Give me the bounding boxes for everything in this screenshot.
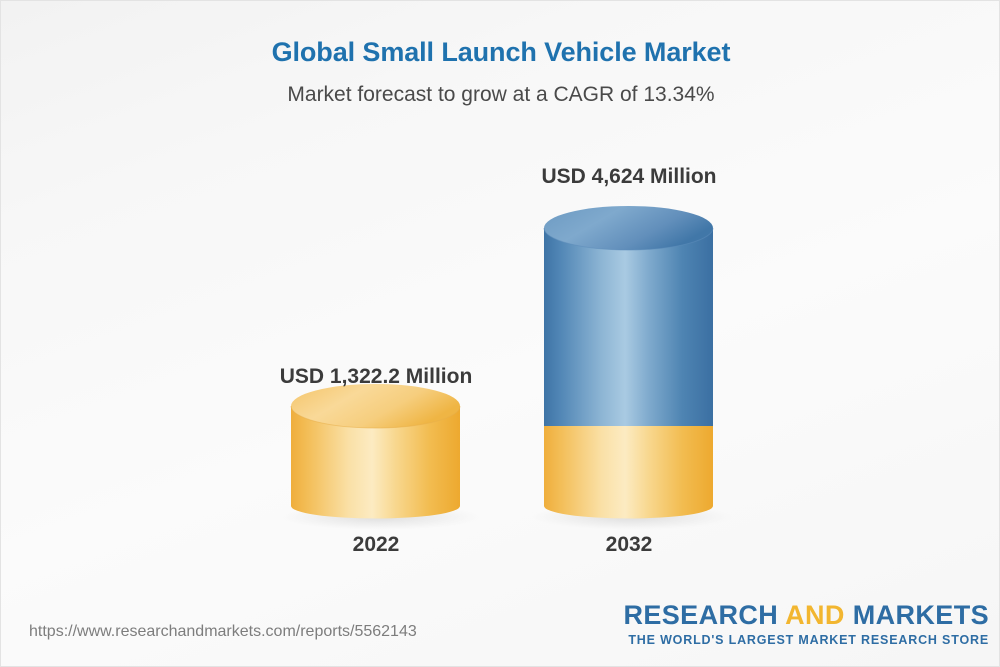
brand-name-and: AND	[785, 600, 845, 630]
brand-name-markets: MARKETS	[845, 600, 989, 630]
source-url[interactable]: https://www.researchandmarkets.com/repor…	[29, 623, 417, 641]
brand-name: RESEARCH AND MARKETS	[623, 601, 989, 630]
brand-logo: RESEARCH AND MARKETS THE WORLD'S LARGEST…	[623, 601, 989, 648]
category-label-2032: 2032	[534, 533, 724, 557]
category-label-2022: 2022	[281, 533, 471, 557]
chart-plot-area: USD 1,322.2 Million USD 4,624 Million 20…	[1, 1, 1000, 667]
brand-tagline: THE WORLD'S LARGEST MARKET RESEARCH STOR…	[623, 632, 989, 648]
brand-name-research: RESEARCH	[623, 600, 785, 630]
cylinder-bars-graphic	[1, 1, 1000, 667]
infographic-canvas: Global Small Launch Vehicle Market Marke…	[0, 0, 1000, 667]
value-label-2022: USD 1,322.2 Million	[231, 365, 521, 389]
value-label-2032: USD 4,624 Million	[484, 165, 774, 189]
